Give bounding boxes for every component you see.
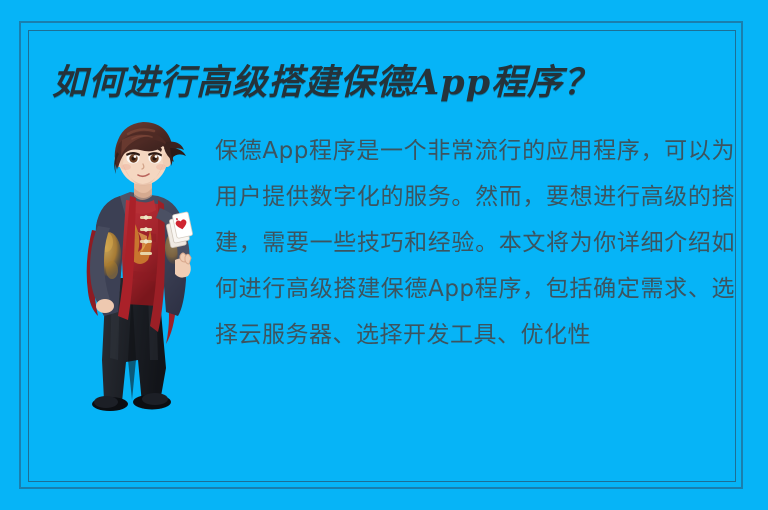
article-body-text: 保德App程序是一个非常流行的应用程序，可以为用户提供数字化的服务。然而，要想进…	[215, 128, 735, 418]
poster-canvas: 如何进行高级搭建保德App程序？	[0, 0, 768, 510]
anime-man-holding-playing-cards-icon	[62, 110, 222, 420]
character-illustration	[62, 110, 222, 420]
page-title: 如何进行高级搭建保德App程序？	[52, 58, 712, 110]
